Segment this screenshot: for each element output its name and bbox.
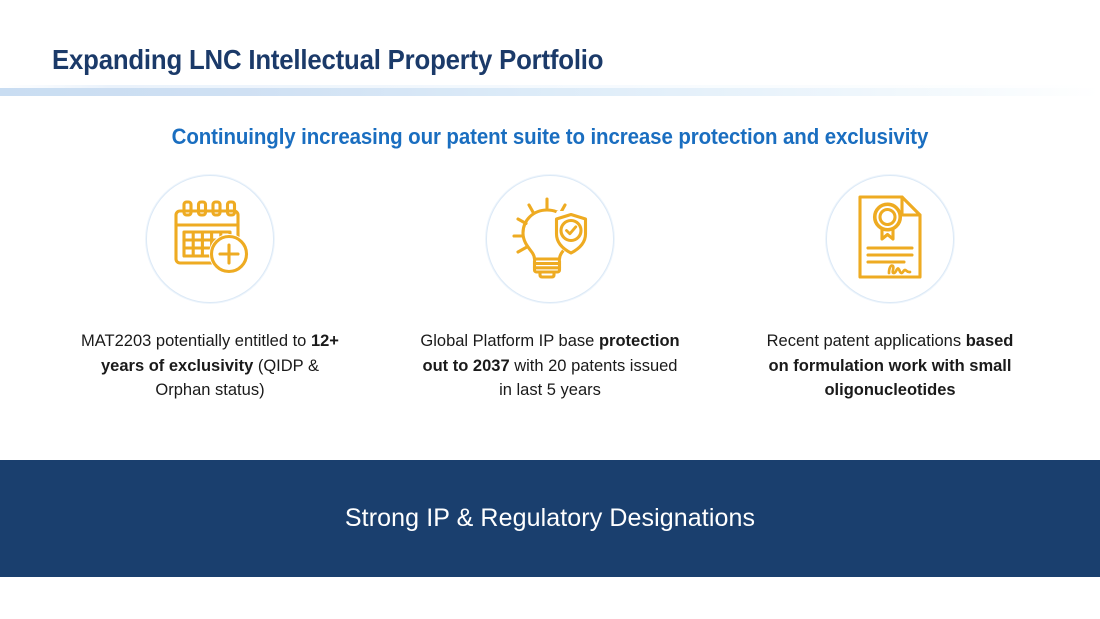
- summary-banner-text: Strong IP & Regulatory Designations: [345, 504, 755, 533]
- caption-part: Recent patent applications: [767, 332, 966, 350]
- feature-caption: MAT2203 potentially entitled to 12+ year…: [80, 329, 340, 403]
- slide-footer: 29 COPYRIGHT MATINAS BIOPHARMA - 2023 MA…: [0, 577, 1100, 619]
- feature-column-recent-patents: Recent patent applications based on form…: [740, 175, 1040, 403]
- page-title: Expanding LNC Intellectual Property Port…: [52, 44, 603, 76]
- feature-caption: Recent patent applications based on form…: [760, 329, 1020, 403]
- header-divider-band: [0, 85, 1100, 96]
- icon-circle: [486, 175, 614, 303]
- caption-part: MAT2203 potentially entitled to: [81, 332, 311, 350]
- caption-part: with 20 patents issued in last 5 years: [499, 357, 677, 400]
- feature-column-platform-ip: Global Platform IP base protection out t…: [400, 175, 700, 403]
- icon-circle: [826, 175, 954, 303]
- lightbulb-shield-icon: [507, 195, 593, 284]
- feature-columns: MAT2203 potentially entitled to 12+ year…: [60, 175, 1040, 403]
- caption-part: Global Platform IP base: [420, 332, 599, 350]
- summary-banner: Strong IP & Regulatory Designations: [0, 460, 1100, 577]
- feature-caption: Global Platform IP base protection out t…: [420, 329, 680, 403]
- icon-circle: [146, 175, 274, 303]
- slide: Expanding LNC Intellectual Property Port…: [0, 0, 1100, 619]
- calendar-plus-icon: [167, 197, 253, 282]
- slide-subtitle: Continuingly increasing our patent suite…: [39, 124, 1062, 150]
- patent-certificate-icon: [852, 193, 928, 286]
- feature-column-exclusivity: MAT2203 potentially entitled to 12+ year…: [60, 175, 360, 403]
